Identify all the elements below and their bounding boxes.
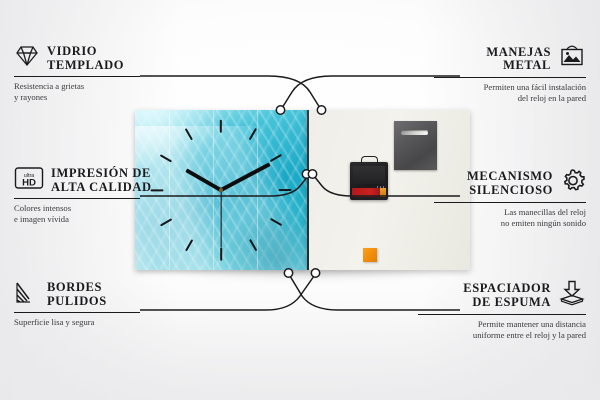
feature-title-line1: IMPRESIÓN DE bbox=[51, 167, 152, 181]
foam-spacer bbox=[363, 248, 377, 262]
product-image bbox=[135, 110, 470, 272]
mechanism-body bbox=[353, 166, 385, 184]
feature-title-line2: TEMPLADO bbox=[47, 59, 124, 73]
feature-desc-line1: Superficie lisa y segura bbox=[14, 317, 140, 328]
feature-desc-line2: uniforme entre el reloj y la pared bbox=[418, 330, 586, 341]
feature-manejas-metal[interactable]: MANEJAS METAL Permiten una fácil instala… bbox=[434, 44, 586, 104]
feature-divider bbox=[14, 312, 140, 313]
feature-divider bbox=[14, 76, 140, 77]
feature-divider bbox=[434, 77, 586, 78]
feature-title-line1: ESPACIADOR bbox=[463, 282, 551, 296]
feature-title-line2: DE ESPUMA bbox=[463, 296, 551, 310]
metal-hanger-plate bbox=[394, 121, 437, 170]
feature-title-line2: SILENCIOSO bbox=[467, 184, 553, 198]
feature-vidrio-templado[interactable]: VIDRIO TEMPLADO Resistencia a grietas y … bbox=[14, 44, 140, 103]
feature-bordes-pulidos[interactable]: BORDES PULIDOS Superficie lisa y segura bbox=[14, 280, 140, 328]
polished-edges-icon bbox=[14, 280, 40, 309]
clock-tick bbox=[220, 247, 222, 260]
feature-desc-line2: del reloj en la pared bbox=[434, 93, 586, 104]
feature-desc-line1: Permiten una fácil instalación bbox=[434, 82, 586, 93]
panel-edge bbox=[307, 110, 309, 270]
feature-desc-line2: no emiten ningún sonido bbox=[434, 218, 586, 229]
infographic-canvas: VIDRIO TEMPLADO Resistencia a grietas y … bbox=[0, 0, 600, 400]
feature-title-line1: MECANISMO bbox=[467, 170, 553, 184]
feature-desc-line1: Colores intensos bbox=[14, 203, 140, 214]
feature-espaciador-espuma[interactable]: ESPACIADOR DE ESPUMA Permite mantener un… bbox=[418, 280, 586, 341]
second-hand bbox=[220, 190, 221, 248]
mechanism-hanging-loop bbox=[361, 156, 378, 166]
clock-mechanism bbox=[350, 162, 388, 200]
feature-mecanismo-silencioso[interactable]: MECANISMO SILENCIOSO Las manecillas del … bbox=[434, 168, 586, 229]
feature-impresion-alta-calidad[interactable]: ultra HD IMPRESIÓN DE ALTA CALIDAD Color… bbox=[14, 166, 140, 225]
battery-cap bbox=[380, 188, 386, 197]
ultra-hd-icon: ultra HD bbox=[14, 166, 44, 195]
feature-title-line2: METAL bbox=[486, 59, 551, 73]
feature-divider bbox=[418, 314, 586, 315]
hanger-slot bbox=[401, 130, 428, 135]
feature-desc-line1: Las manecillas del reloj bbox=[434, 207, 586, 218]
feature-title-line1: MANEJAS bbox=[486, 46, 551, 60]
feature-divider bbox=[14, 198, 140, 199]
picture-frame-hanger-icon bbox=[558, 44, 586, 74]
feature-title-line2: ALTA CALIDAD bbox=[51, 181, 152, 195]
feature-title-line1: BORDES bbox=[47, 281, 107, 295]
feature-desc-line2: e imagen vívida bbox=[14, 214, 140, 225]
diamond-icon bbox=[14, 44, 40, 73]
clock-face bbox=[135, 110, 307, 270]
foam-spacer-icon bbox=[558, 280, 586, 311]
feature-divider bbox=[434, 202, 586, 203]
clock-center-pin bbox=[219, 188, 223, 192]
feature-desc-line2: y rayones bbox=[14, 92, 140, 103]
ultra-hd-large-text: HD bbox=[22, 178, 36, 189]
gear-icon bbox=[560, 168, 586, 199]
clock-tick bbox=[151, 189, 164, 191]
feature-desc-line1: Permite mantener una distancia bbox=[418, 319, 586, 330]
feature-title-line2: PULIDOS bbox=[47, 295, 107, 309]
feature-title-line1: VIDRIO bbox=[47, 45, 124, 59]
feature-desc-line1: Resistencia a grietas bbox=[14, 81, 140, 92]
